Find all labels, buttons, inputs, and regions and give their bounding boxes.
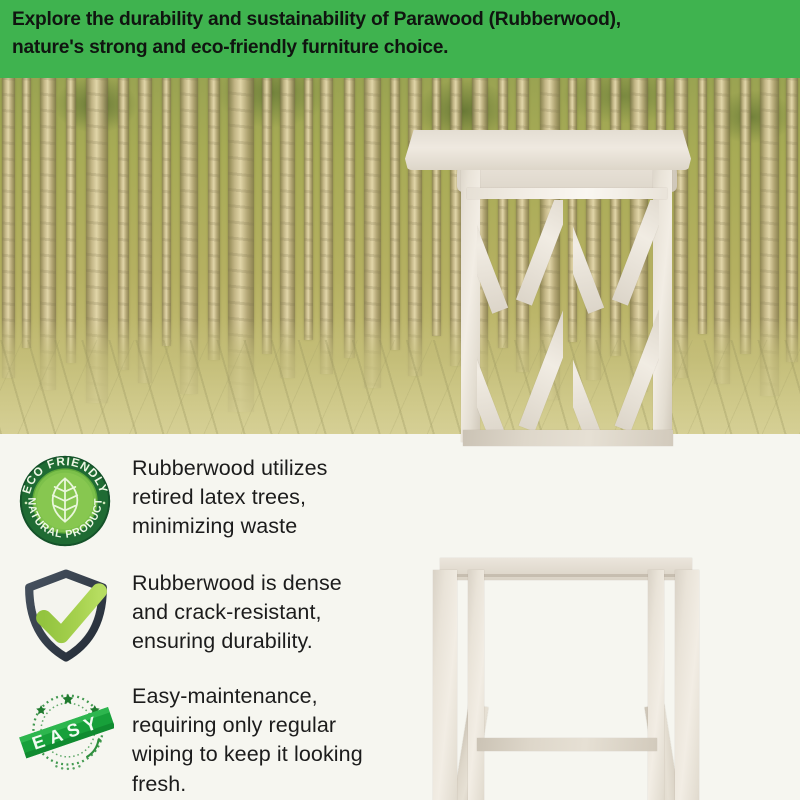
feature-item-eco: ECO FRIENDLY NATURAL PRODUCT Rubberwood … xyxy=(14,450,328,552)
product-stool-image xyxy=(405,130,725,800)
header-title: Explore the durability and sustainabilit… xyxy=(12,6,778,61)
stool-leg-front-right xyxy=(675,570,699,800)
stool-x-panel-right xyxy=(573,200,659,432)
feature-item-durability: Rubberwood is dense and crack-resistant,… xyxy=(14,565,342,667)
feature-badge-slot: EASY xyxy=(14,678,116,780)
shield-check-badge-icon xyxy=(20,567,112,665)
feature-badge-slot: ECO FRIENDLY NATURAL PRODUCT xyxy=(14,450,116,552)
stool-splat-bottom-rail xyxy=(463,430,673,446)
easy-stamp-badge-icon: EASY xyxy=(18,684,114,776)
eco-friendly-leaf-badge-icon: ECO FRIENDLY NATURAL PRODUCT xyxy=(18,454,112,548)
feature-badge-slot xyxy=(14,565,116,667)
stool-seat xyxy=(405,130,691,170)
stool-mid-stretcher xyxy=(477,738,657,751)
feature-text-maintenance: Easy-maintenance, requiring only regular… xyxy=(132,678,363,799)
feature-item-maintenance: EASY Easy-maintenance, requiring only re… xyxy=(14,678,363,799)
stool-leg-front-left xyxy=(433,570,457,800)
stool-splat-top-rail xyxy=(467,188,667,199)
header-banner: Explore the durability and sustainabilit… xyxy=(0,0,800,78)
infographic-root: Explore the durability and sustainabilit… xyxy=(0,0,800,800)
feature-list: ECO FRIENDLY NATURAL PRODUCT Rubberwood … xyxy=(0,440,420,800)
feature-text-eco: Rubberwood utilizes retired latex trees,… xyxy=(132,450,328,542)
easy-badge-label: EASY xyxy=(30,711,105,754)
stool-x-panel-left xyxy=(477,200,563,432)
stool-leg-back-left xyxy=(468,570,484,800)
feature-text-durability: Rubberwood is dense and crack-resistant,… xyxy=(132,565,342,657)
stool-leg-back-right xyxy=(648,570,664,800)
